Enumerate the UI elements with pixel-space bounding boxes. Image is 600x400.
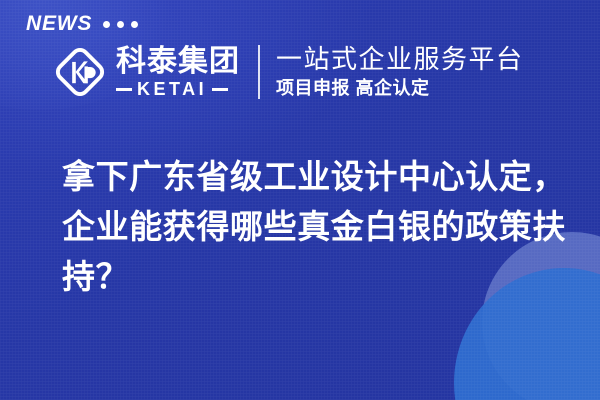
news-dot-icon (103, 21, 110, 28)
news-eyebrow: NEWS (26, 13, 138, 34)
news-label: NEWS (26, 13, 92, 34)
brand-wordmark: 科泰集团 KETAI (116, 46, 240, 98)
headline-line: 持？ (62, 252, 562, 302)
ketai-kp-diamond-logo-icon (52, 44, 108, 100)
news-dots-icon (103, 21, 138, 28)
brand-name-en: KETAI (137, 80, 207, 98)
headline-line: 拿下广东省级工业设计中心认定， (62, 152, 562, 202)
tagline-block: 一站式企业服务平台 项目申报 高企认定 (276, 45, 524, 99)
wordmark-rule-left (116, 88, 132, 91)
wordmark-rule-right (212, 88, 228, 91)
news-dot-icon (131, 21, 138, 28)
brand-header: 科泰集团 KETAI 一站式企业服务平台 项目申报 高企认定 (52, 44, 524, 100)
brand-divider (258, 45, 260, 99)
news-banner: NEWS 科泰集团 KE (0, 0, 600, 400)
headline-line: 企业能获得哪些真金白银的政策扶 (62, 202, 562, 252)
brand-name-en-row: KETAI (116, 80, 240, 98)
news-dot-icon (117, 21, 124, 28)
tagline-secondary: 项目申报 高企认定 (276, 78, 524, 100)
tagline-primary: 一站式企业服务平台 (276, 45, 524, 75)
brand-name-cn: 科泰集团 (116, 46, 240, 78)
headline: 拿下广东省级工业设计中心认定， 企业能获得哪些真金白银的政策扶 持？ (62, 152, 562, 302)
